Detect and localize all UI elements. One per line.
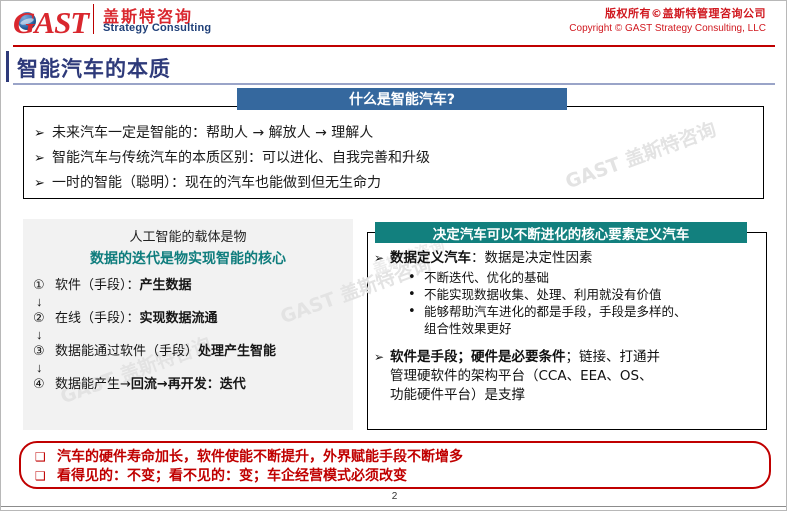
list-item: • 能够帮助汽车进化的都是手段，手段是多样的、 xyxy=(408,303,758,320)
footer-divider-rule xyxy=(1,506,787,507)
dot-bullet-icon: • xyxy=(408,269,424,286)
list-item-label: 智能汽车与传统汽车的本质区别：可以进化、自我完善和升级 xyxy=(52,146,430,171)
list-item: ➢ 软件是手段；硬件是必要条件；链接、打通并 xyxy=(374,348,758,367)
step-text: 数据能产生→回流→再开发：迭代 xyxy=(55,375,353,394)
left-panel-step-list: ① 软件（手段）：产生数据 ↓ ② 在线（手段）：实现数据流通 ↓ ③ 数据能通… xyxy=(23,276,353,394)
step-text: 在线（手段）：实现数据流通 xyxy=(55,309,353,328)
block-continuation-line: 功能硬件平台）是支撑 xyxy=(374,386,758,405)
step-number-icon: ④ xyxy=(33,375,55,394)
top-box-banner: 什么是智能汽车? xyxy=(237,88,567,110)
bottom-callout-box: ❑ 汽车的硬件寿命加长，软件使能不断提升，外界赋能手段不断增多 ❑ 看得见的：不… xyxy=(19,441,771,489)
list-item: ② 在线（手段）：实现数据流通 xyxy=(33,309,353,328)
block-lead-bold: 软件是手段；硬件是必要条件 xyxy=(390,349,566,365)
block-lead-text: 数据定义汽车：数据是决定性因素 xyxy=(390,249,593,268)
arrow-bullet-icon: ➢ xyxy=(374,249,390,268)
arrow-bullet-icon: ➢ xyxy=(34,171,52,196)
top-box-list: ➢ 未来汽车一定是智能的：帮助人 → 解放人 → 理解人 ➢ 智能汽车与传统汽车… xyxy=(34,121,754,196)
logo-wordmark: GAST xyxy=(13,6,88,40)
list-item: • 不能实现数据收集、处理、利用就没有价值 xyxy=(408,286,758,303)
block-lead-rest: ：数据是决定性因素 xyxy=(471,250,593,266)
flow-arrow-down-icon: ↓ xyxy=(33,328,353,342)
list-item: ❑ 汽车的硬件寿命加长，软件使能不断提升，外界赋能手段不断增多 xyxy=(35,448,769,467)
block-lead-text: 软件是手段；硬件是必要条件；链接、打通并 xyxy=(390,348,660,367)
step-text: 软件（手段）：产生数据 xyxy=(55,276,353,295)
copyright-chinese: 版权所有©盖斯特管理咨询公司 xyxy=(569,5,766,21)
list-item: ④ 数据能产生→回流→再开发：迭代 xyxy=(33,375,353,394)
list-item-label: 看得见的：不变；看不见的：变；车企经营模式必须改变 xyxy=(57,467,407,486)
list-item: ❑ 看得见的：不变；看不见的：变；车企经营模式必须改变 xyxy=(35,467,769,486)
list-item: ① 软件（手段）：产生数据 xyxy=(33,276,353,295)
arrow-bullet-icon: ➢ xyxy=(34,146,52,171)
block-lead-rest: ；链接、打通并 xyxy=(566,349,661,365)
page-number: 2 xyxy=(1,491,787,502)
logo-divider xyxy=(93,4,94,34)
square-bullet-icon: ❑ xyxy=(35,448,57,467)
right-panel-sublist: • 不断迭代、优化的基础 • 不能实现数据收集、处理、利用就没有价值 • 能够帮… xyxy=(374,269,758,337)
list-item: ➢ 智能汽车与传统汽车的本质区别：可以进化、自我完善和升级 xyxy=(34,146,754,171)
right-panel-body: ➢ 数据定义汽车：数据是决定性因素 • 不断迭代、优化的基础 • 不能实现数据收… xyxy=(368,233,766,405)
list-item: ➢ 数据定义汽车：数据是决定性因素 xyxy=(374,249,758,268)
brand-logo: GAST xyxy=(13,6,99,40)
step-text-plain: 数据能通过软件（手段） xyxy=(55,344,198,359)
list-item-continuation: 组合性效果更好 xyxy=(408,320,758,337)
step-number-icon: ① xyxy=(33,276,55,295)
step-text-bold: 产生数据 xyxy=(140,278,192,293)
step-text-plain: 软件（手段）： xyxy=(55,278,140,293)
list-item: ③ 数据能通过软件（手段）处理产生智能 xyxy=(33,342,353,361)
logo-english-tagline: Strategy Consulting xyxy=(103,22,211,34)
flow-arrow-down-icon: ↓ xyxy=(33,361,353,375)
flow-arrow-down-icon: ↓ xyxy=(33,295,353,309)
right-panel-block-2: ➢ 软件是手段；硬件是必要条件；链接、打通并 管理硬软件的架构平台（CCA、EE… xyxy=(374,348,758,405)
list-item-label: 汽车的硬件寿命加长，软件使能不断提升，外界赋能手段不断增多 xyxy=(57,448,463,467)
list-item-label: 一时的智能（聪明）：现在的汽车也能做到但无生命力 xyxy=(52,171,381,196)
list-item-label: 不断迭代、优化的基础 xyxy=(424,269,549,286)
list-item: • 不断迭代、优化的基础 xyxy=(408,269,758,286)
right-panel: ➢ 数据定义汽车：数据是决定性因素 • 不断迭代、优化的基础 • 不能实现数据收… xyxy=(367,232,767,430)
left-panel-heading-secondary: 数据的迭代是物实现智能的核心 xyxy=(23,248,353,268)
block-lead-bold: 数据定义汽车 xyxy=(390,250,471,266)
step-text-bold: 回流→再开发：迭代 xyxy=(131,377,246,392)
gast-logo-mark: GAST xyxy=(13,6,99,40)
step-text-bold: 处理产生智能 xyxy=(198,344,276,359)
title-underline-rule xyxy=(13,83,775,85)
page-title: 智能汽车的本质 xyxy=(17,53,171,83)
list-item: ➢ 未来汽车一定是智能的：帮助人 → 解放人 → 理解人 xyxy=(34,121,754,146)
list-item-label: 能够帮助汽车进化的都是手段，手段是多样的、 xyxy=(424,303,687,320)
dot-bullet-icon: • xyxy=(408,286,424,303)
step-text: 数据能通过软件（手段）处理产生智能 xyxy=(55,342,353,361)
right-panel-banner: 决定汽车可以不断进化的核心要素定义汽车 xyxy=(375,222,747,243)
step-text-plain: 数据能产生→ xyxy=(55,377,131,392)
copyright-block: 版权所有©盖斯特管理咨询公司 Copyright © GAST Strategy… xyxy=(569,5,766,34)
copyright-english: Copyright © GAST Strategy Consulting, LL… xyxy=(569,23,766,34)
header-divider-rule xyxy=(13,45,775,47)
step-number-icon: ③ xyxy=(33,342,55,361)
title-accent-bar xyxy=(6,51,9,82)
list-item-label: 不能实现数据收集、处理、利用就没有价值 xyxy=(424,286,662,303)
dot-bullet-icon: • xyxy=(408,303,424,320)
arrow-bullet-icon: ➢ xyxy=(34,121,52,146)
arrow-bullet-icon: ➢ xyxy=(374,348,390,367)
square-bullet-icon: ❑ xyxy=(35,467,57,486)
step-number-icon: ② xyxy=(33,309,55,328)
left-panel: 人工智能的载体是物 数据的迭代是物实现智能的核心 ① 软件（手段）：产生数据 ↓… xyxy=(23,219,353,430)
top-box: ➢ 未来汽车一定是智能的：帮助人 → 解放人 → 理解人 ➢ 智能汽车与传统汽车… xyxy=(23,106,764,199)
slide-header: GAST 盖斯特咨询 Strategy Consulting 版权所有©盖斯特管… xyxy=(1,1,787,46)
left-panel-heading-primary: 人工智能的载体是物 xyxy=(23,226,353,245)
list-item-label: 未来汽车一定是智能的：帮助人 → 解放人 → 理解人 xyxy=(52,121,373,146)
block-continuation-line: 管理硬软件的架构平台（CCA、EEA、OS、 xyxy=(374,367,758,386)
list-item-label: 组合性效果更好 xyxy=(424,320,512,337)
step-text-plain: 在线（手段）： xyxy=(55,311,140,326)
list-item: ➢ 一时的智能（聪明）：现在的汽车也能做到但无生命力 xyxy=(34,171,754,196)
slide-canvas: GAST 盖斯特咨询 GAST 盖斯特咨询 GAST 盖斯特咨询 盖斯特咨询 G… xyxy=(0,0,787,511)
step-text-bold: 实现数据流通 xyxy=(140,311,218,326)
